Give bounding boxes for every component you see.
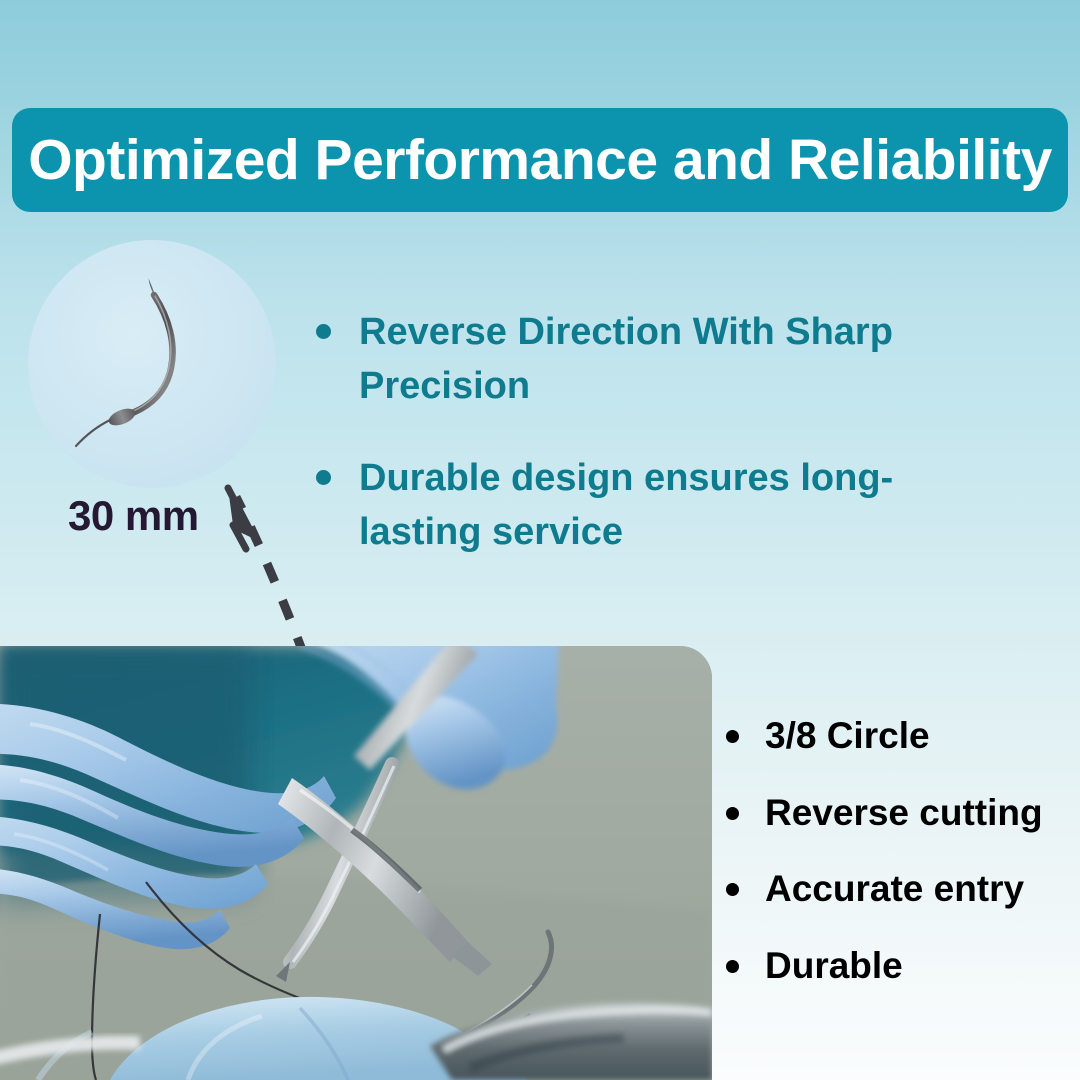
bullet-icon (316, 470, 331, 485)
feature-label: Reverse Direction With Sharp Precision (359, 306, 959, 414)
photo-illustration (0, 646, 712, 1080)
spec-list: 3/8 Circle Reverse cutting Accurate entr… (726, 716, 1066, 1023)
bullet-icon (316, 324, 331, 339)
surgeon-suturing-photo (0, 646, 712, 1080)
bullet-icon (726, 730, 739, 743)
list-item: 3/8 Circle (726, 716, 1066, 757)
spec-label: Durable (765, 946, 903, 987)
spec-label: Accurate entry (765, 869, 1024, 910)
feature-label: Durable design ensures long-lasting serv… (359, 452, 959, 560)
promotional-poster: Optimized Performance and Reliability (0, 0, 1080, 1080)
list-item: Reverse Direction With Sharp Precision (316, 306, 996, 414)
list-item: Accurate entry (726, 869, 1066, 910)
needle-size-label: 30 mm (68, 495, 199, 537)
bullet-icon (726, 883, 739, 896)
header-banner: Optimized Performance and Reliability (12, 108, 1068, 212)
list-item: Durable design ensures long-lasting serv… (316, 452, 996, 560)
needle-product-circle (28, 240, 276, 488)
curved-surgical-needle-icon (28, 240, 276, 488)
page-title: Optimized Performance and Reliability (28, 132, 1052, 189)
list-item: Durable (726, 946, 1066, 987)
feature-list: Reverse Direction With Sharp Precision D… (316, 306, 996, 598)
list-item: Reverse cutting (726, 793, 1066, 834)
bullet-icon (726, 960, 739, 973)
spec-label: Reverse cutting (765, 793, 1043, 834)
spec-label: 3/8 Circle (765, 716, 930, 757)
bullet-icon (726, 807, 739, 820)
